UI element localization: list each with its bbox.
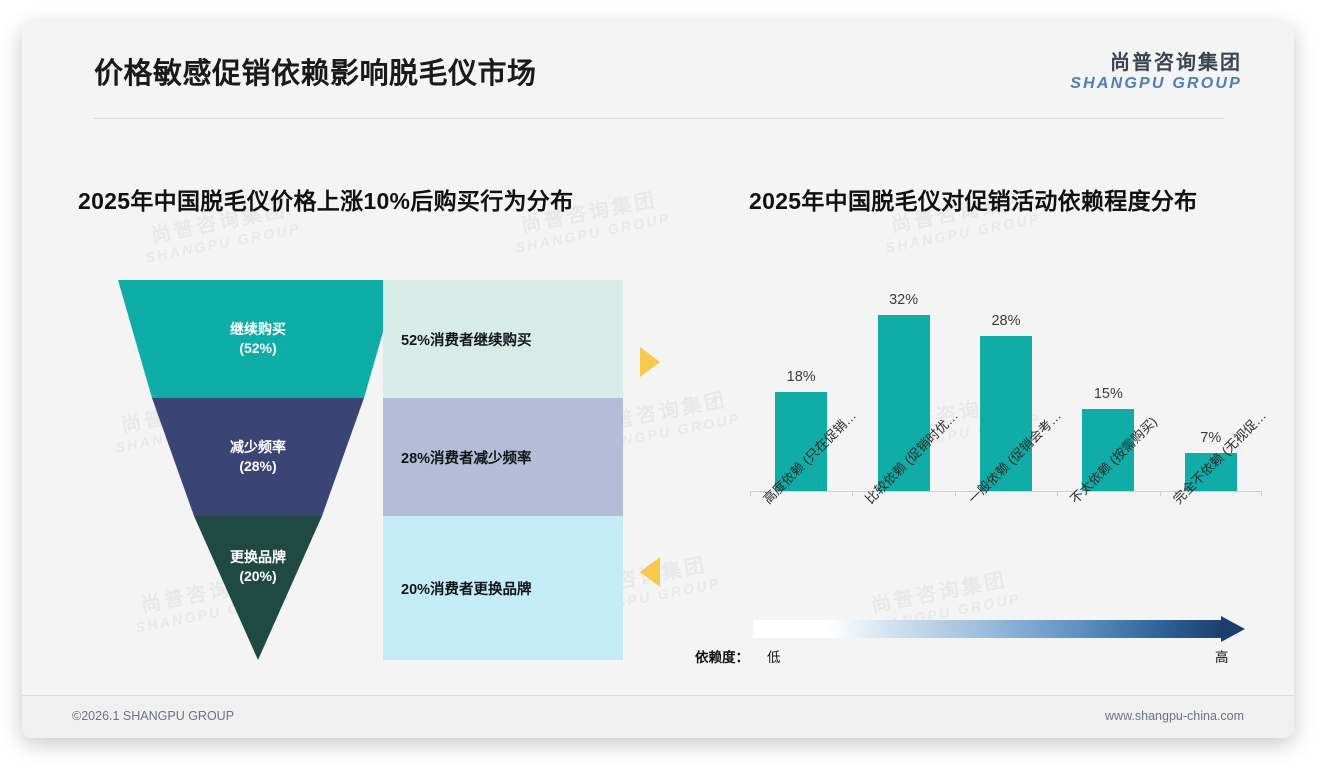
right-chart-title: 2025年中国脱毛仪对促销活动依赖程度分布 — [749, 182, 1197, 216]
funnel-callout-text: 28%消费者减少频率 — [383, 447, 532, 468]
header-divider — [94, 118, 1224, 119]
funnel-segment-shape — [118, 516, 398, 660]
funnel-segment[interactable]: 更换品牌 (20%) — [118, 516, 398, 660]
gradient-bar — [753, 620, 1223, 638]
dependency-bar-chart: 18% 32% 28% 15% 7% — [722, 272, 1282, 672]
funnel-shape-group: 继续购买 (52%) 减少频率 (28%) 更换品牌 ( — [118, 280, 398, 660]
triangle-left-icon — [640, 557, 660, 587]
triangle-right-icon — [640, 347, 660, 377]
legend-high-label: 高 — [1215, 646, 1229, 666]
slide-header: 价格敏感促销依赖影响脱毛仪市场 尚普咨询集团 SHANGPU GROUP — [22, 22, 1294, 118]
website-link[interactable]: www.shangpu-china.com — [1105, 709, 1244, 723]
page-title: 价格敏感促销依赖影响脱毛仪市场 — [94, 50, 537, 92]
bar-value-label: 32% — [889, 292, 918, 308]
dependency-gradient-legend: 依赖度： 低 高 — [695, 616, 1275, 672]
slide-footer: ©2026.1 SHANGPU GROUP www.shangpu-china.… — [22, 695, 1294, 738]
funnel-segment-label: 继续购买 (52%) — [230, 320, 286, 358]
x-axis-label-group: 高度依赖 (只在促销… 比较依赖 (促销时优… 一般依赖 (促销会考… 不太依赖… — [750, 494, 1262, 624]
funnel-label-pct: (28%) — [230, 457, 286, 476]
funnel-chart: 继续购买 (52%) 减少频率 (28%) 更换品牌 ( — [78, 262, 623, 662]
logo-cn-text: 尚普咨询集团 — [1070, 52, 1242, 74]
funnel-label-text: 减少频率 — [230, 438, 286, 457]
watermark-en: SHANGPU GROUP — [514, 210, 672, 256]
bar-value-label: 28% — [991, 313, 1020, 329]
funnel-segment-label: 减少频率 (28%) — [230, 438, 286, 476]
logo-en-text: SHANGPU GROUP — [1070, 75, 1242, 93]
funnel-segment[interactable]: 继续购买 (52%) — [118, 280, 398, 398]
funnel-callout-text: 20%消费者更换品牌 — [383, 578, 532, 599]
funnel-label-text: 继续购买 — [230, 320, 286, 339]
funnel-label-pct: (52%) — [230, 339, 286, 358]
funnel-label-pct: (20%) — [230, 567, 286, 586]
funnel-label-text: 更换品牌 — [230, 548, 286, 567]
funnel-callout: 52%消费者继续购买 — [383, 280, 623, 398]
left-chart-title: 2025年中国脱毛仪价格上涨10%后购买行为分布 — [78, 182, 573, 216]
copyright-text: ©2026.1 SHANGPU GROUP — [72, 709, 234, 723]
watermark-en: SHANGPU GROUP — [884, 210, 1042, 256]
legend-low-label: 低 — [767, 646, 781, 666]
funnel-callout-text: 52%消费者继续购买 — [383, 329, 532, 350]
gradient-arrow — [753, 616, 1253, 642]
brand-logo: 尚普咨询集团 SHANGPU GROUP — [1070, 52, 1242, 93]
funnel-callout-group: 52%消费者继续购买 28%消费者减少频率 20%消费者更换品牌 — [383, 280, 623, 660]
arrow-head-icon — [1221, 616, 1245, 642]
funnel-segment[interactable]: 减少频率 (28%) — [118, 398, 398, 516]
bar-value-label: 18% — [787, 369, 816, 385]
funnel-callout: 28%消费者减少频率 — [383, 398, 623, 516]
legend-title: 依赖度： — [695, 646, 749, 666]
funnel-callout: 20%消费者更换品牌 — [383, 516, 623, 660]
watermark-en: SHANGPU GROUP — [144, 220, 302, 266]
slide-canvas: 尚普咨询集团 SHANGPU GROUP 尚普咨询集团 SHANGPU GROU… — [22, 22, 1294, 738]
funnel-segment-label: 更换品牌 (20%) — [230, 548, 286, 586]
bar-value-label: 15% — [1094, 386, 1123, 402]
